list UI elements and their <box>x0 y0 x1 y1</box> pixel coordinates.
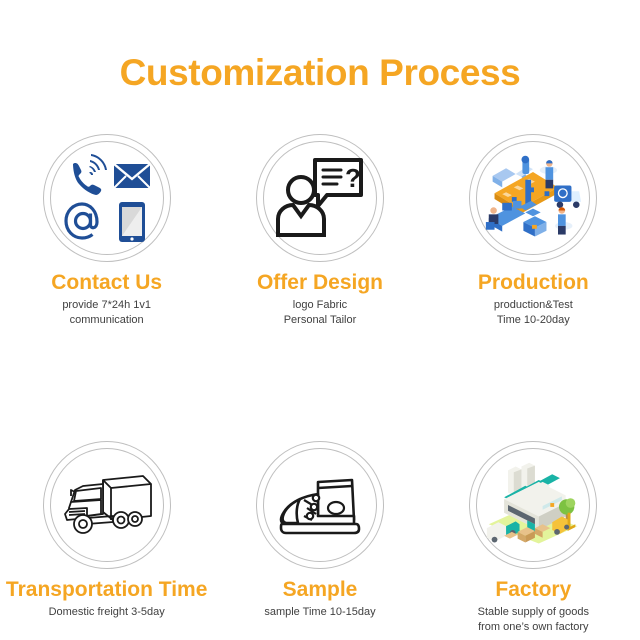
step-label: Transportation Time <box>6 578 207 602</box>
subtitle-line: provide 7*24h 1v1 <box>62 298 151 313</box>
steps-row-bottom: Transportation Time Domestic freight 3-5… <box>0 440 640 635</box>
step-label: Production <box>478 271 589 295</box>
speech-bubble-question-icon: ? <box>315 160 361 206</box>
box-truck-icon <box>57 455 157 555</box>
desk-worker-icon <box>486 201 525 232</box>
subtitle-line: from one’s own factory <box>478 620 589 635</box>
worker-icon <box>546 160 554 188</box>
icon-circle-sample <box>255 440 385 570</box>
customization-process-infographic: Customization Process <box>0 0 640 640</box>
step-subtitle: Stable supply of goods from one’s own fa… <box>478 605 589 635</box>
icon-circle-production <box>468 133 598 263</box>
smartphone-icon <box>119 202 145 242</box>
delivery-truck-icon <box>554 186 581 209</box>
subtitle-line: Time 10-20day <box>494 313 573 328</box>
subtitle-line: sample Time 10-15day <box>264 605 375 620</box>
subtitle-line: Domestic freight 3-5day <box>49 605 165 620</box>
subtitle-line: logo Fabric <box>284 298 357 313</box>
step-label: Offer Design <box>257 271 383 295</box>
icon-circle-offer-design: ? <box>255 133 385 263</box>
step-subtitle: logo Fabric Personal Tailor <box>284 298 357 328</box>
phone-call-icon <box>73 154 107 195</box>
step-subtitle: sample Time 10-15day <box>264 605 375 620</box>
subtitle-line: production&Test <box>494 298 573 313</box>
steps-row-top: Contact Us provide 7*24h 1v1 communicati… <box>0 133 640 328</box>
factory-building-isometric-icon <box>483 455 583 555</box>
step-card-production[interactable]: Production production&Test Time 10-20day <box>427 133 640 328</box>
step-card-contact-us[interactable]: Contact Us provide 7*24h 1v1 communicati… <box>0 133 213 328</box>
step-card-transportation-time[interactable]: Transportation Time Domestic freight 3-5… <box>0 440 213 635</box>
step-card-factory[interactable]: Factory Stable supply of goods from one’… <box>427 440 640 635</box>
step-label: Sample <box>283 578 358 602</box>
step-subtitle: Domestic freight 3-5day <box>49 605 165 620</box>
subtitle-line: Stable supply of goods <box>478 605 589 620</box>
contact-icons <box>57 148 157 248</box>
subtitle-line: communication <box>62 313 151 328</box>
person-question-bubble-icon: ? <box>270 148 370 248</box>
factory-production-isometric-icon <box>483 148 583 248</box>
icon-circle-transportation-time <box>42 440 172 570</box>
boxes-icon <box>524 209 547 237</box>
envelope-icon <box>114 164 150 188</box>
subtitle-line: Personal Tailor <box>284 313 357 328</box>
at-sign-icon <box>66 204 97 238</box>
page-title: Customization Process <box>0 52 640 94</box>
step-card-offer-design[interactable]: ? Offer Design logo Fabric Personal Tail… <box>213 133 426 328</box>
steps-grid: Contact Us provide 7*24h 1v1 communicati… <box>0 133 640 635</box>
step-subtitle: production&Test Time 10-20day <box>494 298 573 328</box>
svg-text:?: ? <box>345 163 361 193</box>
step-label: Factory <box>495 578 571 602</box>
icon-circle-factory <box>468 440 598 570</box>
boot-shoe-icon <box>270 455 370 555</box>
step-subtitle: provide 7*24h 1v1 communication <box>62 298 151 328</box>
step-label: Contact Us <box>51 271 162 295</box>
icon-circle-contact-us <box>42 133 172 263</box>
step-card-sample[interactable]: Sample sample Time 10-15day <box>213 440 426 635</box>
worker-icon <box>558 207 566 234</box>
